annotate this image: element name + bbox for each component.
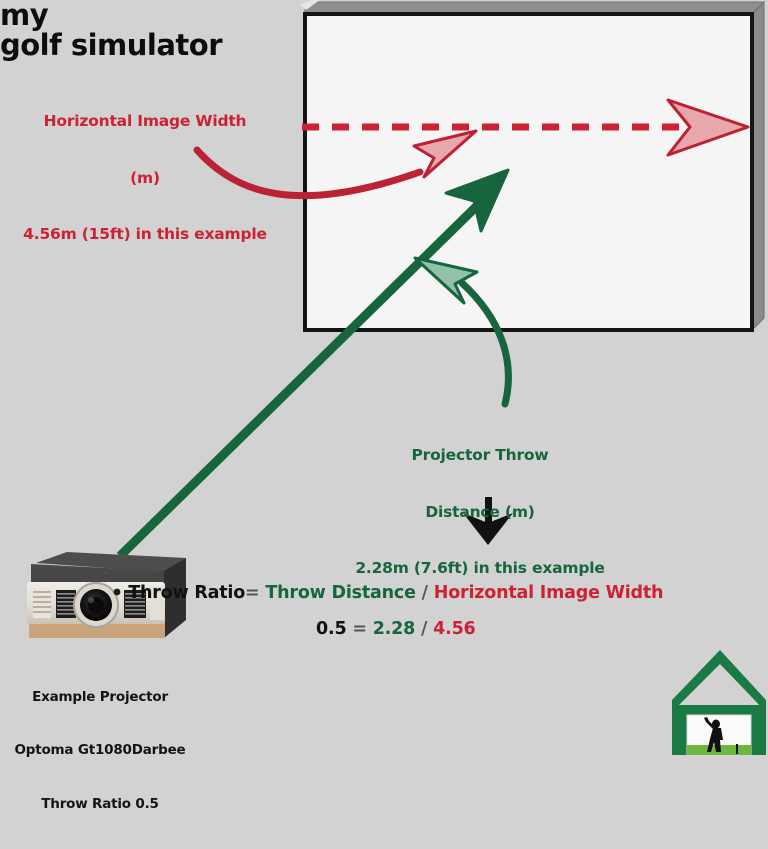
caption-line1: Example Projector [0,689,200,707]
projector-caption: Example Projector Optoma Gt1080Darbee Th… [0,653,200,849]
garage-with-golfer-icon [672,650,766,755]
logo-flagstick [736,744,738,754]
red-label-line3: 4.56m (15ft) in this example [0,225,290,244]
value-denominator: 4.56 [433,619,475,639]
red-label-line2: (m) [0,169,290,188]
horizontal-image-width-label: Horizontal Image Width (m) 4.56m (15ft) … [0,74,290,282]
red-label-line1: Horizontal Image Width [0,112,290,131]
green-label-line2: Distance (m) [330,503,630,522]
caption-line2: Optoma Gt1080Darbee [0,742,200,760]
value-label: 0.5 [316,619,346,639]
value-slash: / [421,619,427,639]
value-numerator: 2.28 [373,619,415,639]
screen-face [305,14,752,330]
value-equals: = [352,619,366,639]
caption-line3: Throw Ratio 0.5 [0,796,200,814]
diagram-canvas: Horizontal Image Width (m) 4.56m (15ft) … [0,0,768,768]
logo-lintel [672,705,766,715]
green-label-line1: Projector Throw [330,446,630,465]
projection-screen [300,0,764,330]
